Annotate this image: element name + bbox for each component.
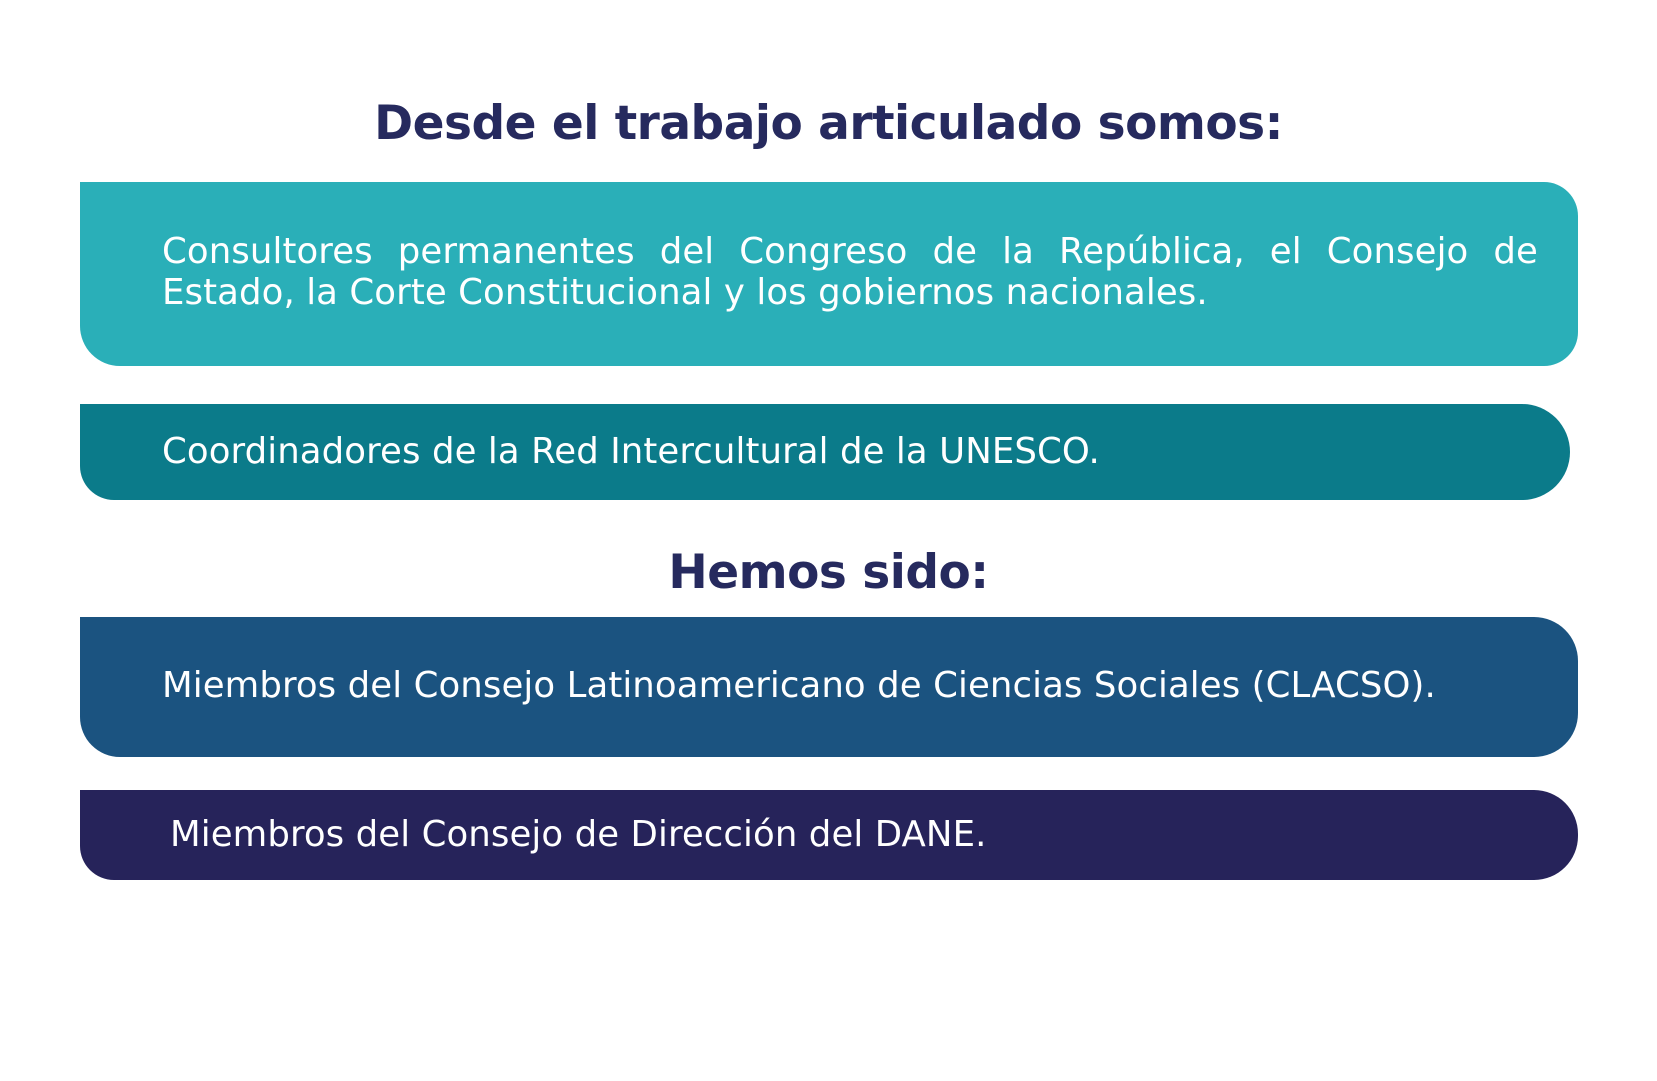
statement-bar-clacso: Miembros del Consejo Latinoamericano de … bbox=[80, 617, 1578, 757]
heading-desde-el-trabajo-articulado: Desde el trabajo articulado somos: bbox=[0, 96, 1657, 152]
statement-bar-consultores: Consultores permanentes del Congreso de … bbox=[80, 182, 1578, 366]
statement-bar-coordinadores-text: Coordinadores de la Red Intercultural de… bbox=[162, 431, 1530, 473]
statement-bar-dane: Miembros del Consejo de Dirección del DA… bbox=[80, 790, 1578, 880]
slide-canvas: Desde el trabajo articulado somos: Consu… bbox=[0, 0, 1657, 1081]
statement-bar-clacso-text: Miembros del Consejo Latinoamericano de … bbox=[162, 664, 1534, 708]
statement-bar-coordinadores: Coordinadores de la Red Intercultural de… bbox=[80, 404, 1570, 500]
statement-bar-consultores-text: Consultores permanentes del Congreso de … bbox=[162, 231, 1538, 313]
heading-hemos-sido: Hemos sido: bbox=[0, 545, 1657, 601]
statement-bar-dane-text: Miembros del Consejo de Dirección del DA… bbox=[170, 814, 1538, 856]
